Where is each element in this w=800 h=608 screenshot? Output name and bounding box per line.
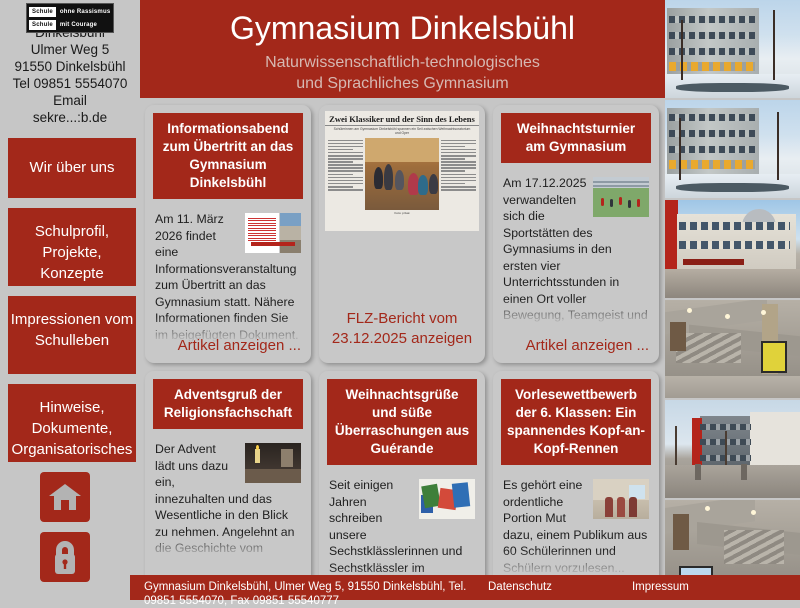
news-card-vorlesewettbewerb[interactable]: Vorlesewettbewerb der 6. Klassen: Ein sp… bbox=[493, 371, 659, 593]
main-navigation: Wir über uns Schulprofil, Projekte, Konz… bbox=[0, 138, 140, 582]
photo-school-courtyard-entrance bbox=[665, 200, 800, 298]
card-body: Am 17.12.2025 verwandelten sich die Spor… bbox=[503, 175, 649, 325]
clipping-subline: Schülerinnen am Gymnasium Dinkelsbühl sp… bbox=[325, 126, 479, 136]
news-card-guerande[interactable]: Weihnachtsgrüße und süße Überraschungen … bbox=[319, 371, 485, 593]
card-title: Informationsabend zum Übertritt an das G… bbox=[153, 113, 303, 199]
newspaper-clipping-image: Zwei Klassiker und der Sinn des Lebens S… bbox=[325, 111, 479, 231]
reading-contest-thumbnail-icon bbox=[593, 479, 649, 519]
page-root: Gymnasium Dinkelsbühl Ulmer Weg 5 91550 … bbox=[0, 0, 800, 600]
card-body: Es gehört eine ordentliche Portion Mut d… bbox=[503, 477, 649, 576]
card-read-more-link[interactable]: FLZ-Bericht vom 23.12.2025 anzeigen bbox=[319, 309, 485, 349]
badge-row-1: Schule ohne Rassismus bbox=[29, 6, 111, 17]
card-body: Der Advent lädt uns dazu ein, innezuhalt… bbox=[155, 441, 301, 559]
photo-school-atrium-staircase bbox=[665, 300, 800, 398]
card-title: Adventsgruß der Religionsfachschaft bbox=[153, 379, 303, 429]
site-footer: Gymnasium Dinkelsbühl, Ulmer Weg 5, 9155… bbox=[130, 575, 800, 600]
nav-item-impressionen[interactable]: Impressionen vom Schulleben bbox=[8, 296, 136, 374]
badge-text-1: ohne Rassismus bbox=[60, 8, 110, 16]
gym-hall-thumbnail-icon bbox=[593, 177, 649, 217]
schule-ohne-rassismus-badge: Schule ohne Rassismus Schule mit Courage bbox=[26, 3, 114, 33]
footer-address: Gymnasium Dinkelsbühl, Ulmer Weg 5, 9155… bbox=[144, 580, 474, 608]
photo-school-building-winter-1 bbox=[665, 0, 800, 98]
gifts-thumbnail-icon bbox=[419, 479, 475, 519]
badge-tag-1: Schule bbox=[29, 7, 56, 17]
contact-email[interactable]: sekre...:b.de bbox=[0, 109, 140, 126]
news-card-grid: Informationsabend zum Übertritt an das G… bbox=[145, 105, 660, 593]
news-card-adventsgruss[interactable]: Adventsgruß der Religionsfachschaft Der … bbox=[145, 371, 311, 593]
card-title: Weihnachtsturnier am Gymnasium bbox=[501, 113, 651, 163]
footer-link-datenschutz[interactable]: Datenschutz bbox=[488, 580, 552, 594]
nav-item-hinweise[interactable]: Hinweise, Dokumente, Organisatorisches bbox=[8, 384, 136, 462]
photo-school-modern-wing bbox=[665, 400, 800, 498]
header-subtitle-line-1: Naturwissenschaftlich-technologisches bbox=[140, 52, 665, 73]
nav-item-schulprofil[interactable]: Schulprofil, Projekte, Konzepte bbox=[8, 208, 136, 286]
news-card-weihnachtsturnier[interactable]: Weihnachtsturnier am Gymnasium bbox=[493, 105, 659, 363]
badge-tag-2: Schule bbox=[29, 20, 56, 30]
card-body: Am 11. März 2026 findet eine Information… bbox=[155, 211, 301, 343]
document-thumbnail-icon bbox=[245, 213, 301, 253]
contact-line-3: Ulmer Weg 5 bbox=[0, 41, 140, 58]
home-button[interactable] bbox=[40, 472, 90, 522]
clipping-headline: Zwei Klassiker und der Sinn des Lebens bbox=[325, 111, 479, 126]
home-icon bbox=[48, 481, 82, 513]
header-subtitle: Naturwissenschaftlich-technologisches un… bbox=[140, 52, 665, 94]
news-card-informationsabend[interactable]: Informationsabend zum Übertritt an das G… bbox=[145, 105, 311, 363]
card-title: Vorlesewettbewerb der 6. Klassen: Ein sp… bbox=[501, 379, 651, 465]
site-header: Gymnasium Dinkelsbühl Naturwissenschaftl… bbox=[140, 0, 665, 98]
card-read-more-link[interactable]: Artikel anzeigen ... bbox=[145, 337, 301, 354]
contact-block: Gymnasium Dinkelsbühl Ulmer Weg 5 91550 … bbox=[0, 0, 140, 126]
nav-item-wir-ueber-uns[interactable]: Wir über uns bbox=[8, 138, 136, 198]
contact-line-6: Email bbox=[0, 92, 140, 109]
header-subtitle-line-2: und Sprachliches Gymnasium bbox=[140, 73, 665, 94]
footer-link-impressum[interactable]: Impressum bbox=[632, 580, 689, 594]
photo-school-building-winter-2 bbox=[665, 100, 800, 198]
contact-line-5: Tel 09851 5554070 bbox=[0, 75, 140, 92]
card-title: Weihnachtsgrüße und süße Überraschungen … bbox=[327, 379, 477, 465]
lock-icon bbox=[50, 540, 80, 574]
advent-candle-thumbnail-icon bbox=[245, 443, 301, 483]
photo-sidebar bbox=[665, 0, 800, 600]
login-button[interactable] bbox=[40, 532, 90, 582]
page-title: Gymnasium Dinkelsbühl bbox=[140, 8, 665, 48]
card-read-more-link[interactable]: Artikel anzeigen ... bbox=[493, 337, 649, 354]
main-content: Informationsabend zum Übertritt an das G… bbox=[140, 98, 665, 600]
contact-line-4: 91550 Dinkelsbühl bbox=[0, 58, 140, 75]
news-card-flz-bericht[interactable]: Zwei Klassiker und der Sinn des Lebens S… bbox=[319, 105, 485, 363]
left-sidebar: Gymnasium Dinkelsbühl Ulmer Weg 5 91550 … bbox=[0, 0, 140, 600]
badge-row-2: Schule mit Courage bbox=[29, 19, 111, 30]
badge-text-2: mit Courage bbox=[60, 21, 97, 29]
